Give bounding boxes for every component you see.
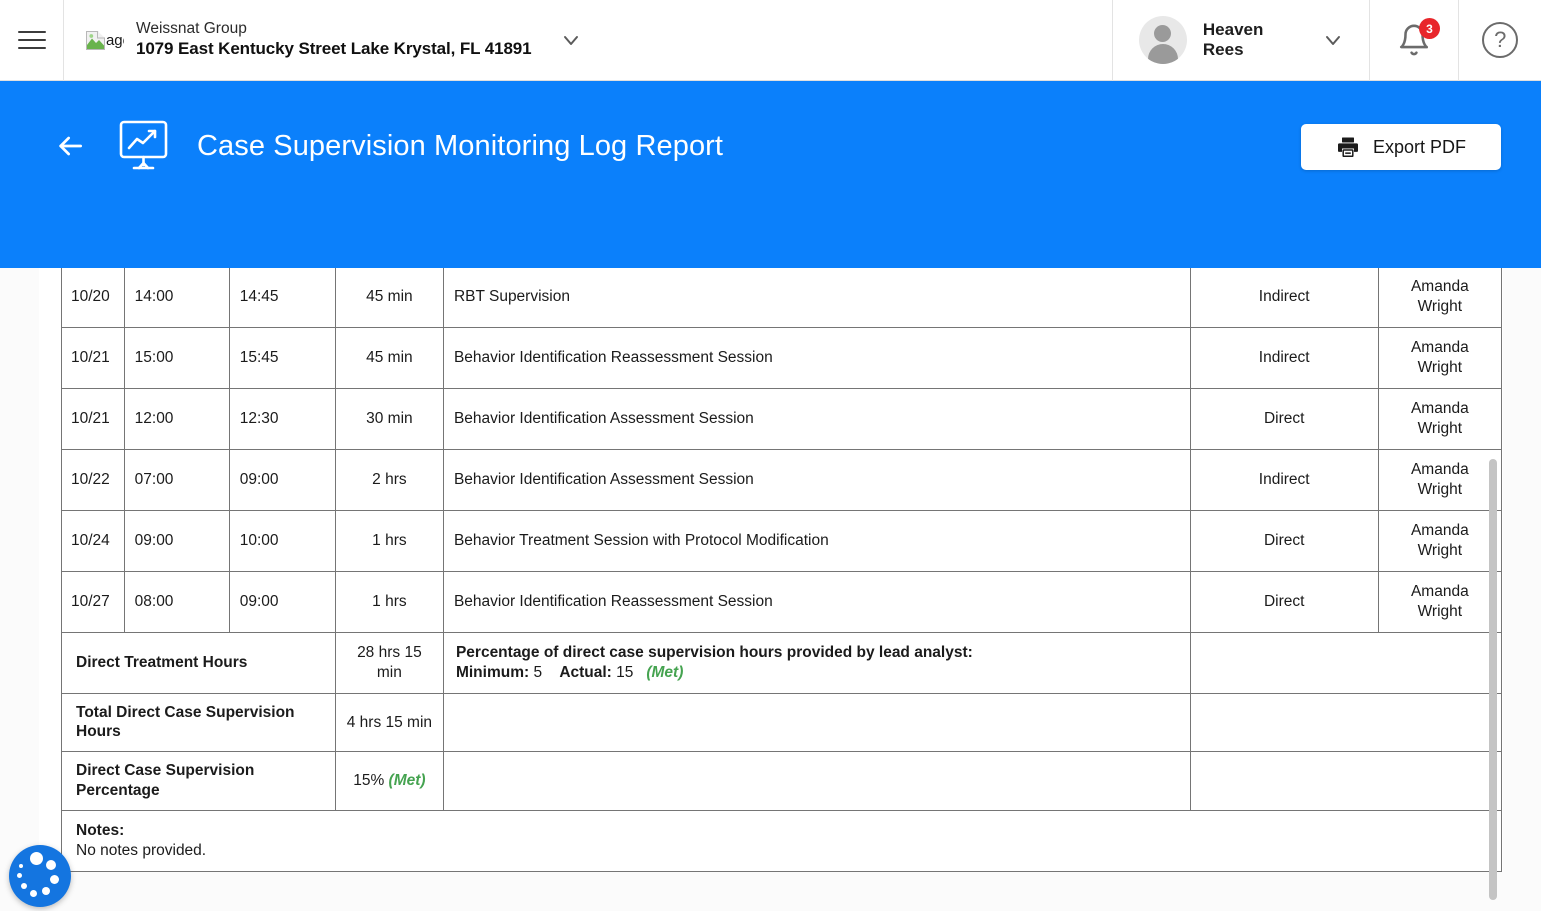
table-row[interactable]: 10/24 09:00 10:00 1 hrs Behavior Treatme… [62, 511, 1502, 572]
cell-activity: Behavior Treatment Session with Protocol… [443, 511, 1190, 572]
cell-activity: Behavior Identification Reassessment Ses… [443, 572, 1190, 633]
total-direct-label: Total Direct Case Supervision Hours [62, 693, 336, 752]
cell-supervisor: Amanda Wright [1378, 389, 1501, 450]
bell-icon: 3 [1397, 23, 1431, 57]
question-mark-icon: ? [1482, 22, 1518, 58]
cell-duration: 1 hrs [335, 572, 443, 633]
minimum-label: Minimum: [456, 664, 529, 681]
notes-text: No notes provided. [76, 841, 1487, 861]
actual-value: 15 [616, 664, 633, 681]
cell-type: Direct [1190, 572, 1378, 633]
percentage-detail-line: Minimum: 5 Actual: 15 (Met) [456, 663, 1178, 683]
notifications-button[interactable]: 3 [1369, 0, 1458, 81]
cell-end: 09:00 [229, 450, 335, 511]
arrow-left-icon [54, 130, 86, 162]
table-row[interactable]: 10/21 15:00 15:45 45 min Behavior Identi… [62, 328, 1502, 389]
cell-start: 15:00 [124, 328, 229, 389]
cell-duration: 45 min [335, 328, 443, 389]
cell-supervisor: Amanda Wright [1378, 572, 1501, 633]
cell-end: 14:45 [229, 267, 335, 328]
monitor-chart-icon [115, 118, 175, 174]
cell-end: 15:45 [229, 328, 335, 389]
vertical-scrollbar-thumb[interactable] [1489, 459, 1497, 900]
cell-supervisor: Amanda Wright [1378, 328, 1501, 389]
actual-label: Actual: [559, 664, 612, 681]
cell-start: 07:00 [124, 450, 229, 511]
report-header-bar: Case Supervision Monitoring Log Report E… [0, 81, 1541, 268]
cell-date: 10/22 [62, 450, 125, 511]
menu-button[interactable] [0, 0, 63, 81]
avatar [1139, 16, 1187, 64]
direct-treatment-value: 28 hrs 15 min [335, 633, 443, 694]
broken-image-icon [86, 31, 105, 50]
cell-duration: 30 min [335, 389, 443, 450]
cell-duration: 45 min [335, 267, 443, 328]
back-button[interactable] [48, 124, 92, 168]
organization-selector[interactable]: age Weissnat Group 1079 East Kentucky St… [64, 0, 1112, 81]
cell-start: 09:00 [124, 511, 229, 572]
percentage-status-badge: (Met) [646, 664, 683, 681]
cell-date: 10/27 [62, 572, 125, 633]
cell-date: 10/21 [62, 328, 125, 389]
summary-row-percentage: Direct Case Supervision Percentage 15% (… [62, 752, 1502, 811]
cell-start: 14:00 [124, 267, 229, 328]
report-table-container: 10/20 15:30 16:15 45 min Conduct direct … [39, 205, 1503, 872]
page-title: Case Supervision Monitoring Log Report [197, 130, 723, 163]
summary-blank-cell [443, 752, 1190, 811]
cell-date: 10/24 [62, 511, 125, 572]
top-navigation-bar: age Weissnat Group 1079 East Kentucky St… [0, 0, 1541, 81]
hamburger-icon [18, 25, 46, 55]
organization-address: 1079 East Kentucky Street Lake Krystal, … [136, 39, 532, 60]
percentage-heading: Percentage of direct case supervision ho… [456, 643, 1178, 663]
cell-supervisor: Amanda Wright [1378, 267, 1501, 328]
accessibility-widget-button[interactable] [9, 845, 71, 907]
notes-title: Notes: [76, 821, 1487, 841]
notes-cell: Notes: No notes provided. [62, 810, 1502, 871]
percentage-summary-cell: Percentage of direct case supervision ho… [443, 633, 1190, 694]
cell-start: 12:00 [124, 389, 229, 450]
cell-duration: 1 hrs [335, 511, 443, 572]
cell-activity: Behavior Identification Assessment Sessi… [443, 450, 1190, 511]
percentage-value: 15% [353, 772, 384, 789]
direct-treatment-label: Direct Treatment Hours [62, 633, 336, 694]
help-button[interactable]: ? [1459, 0, 1541, 81]
cell-duration: 2 hrs [335, 450, 443, 511]
summary-row-total-direct: Total Direct Case Supervision Hours 4 hr… [62, 693, 1502, 752]
table-body: 10/20 15:30 16:15 45 min Conduct direct … [62, 206, 1502, 872]
cell-date: 10/20 [62, 267, 125, 328]
table-row[interactable]: 10/21 12:00 12:30 30 min Behavior Identi… [62, 389, 1502, 450]
summary-blank-cell [1190, 752, 1501, 811]
cell-activity: Behavior Identification Assessment Sessi… [443, 389, 1190, 450]
cell-end: 12:30 [229, 389, 335, 450]
cell-date: 10/21 [62, 389, 125, 450]
table-row[interactable]: 10/27 08:00 09:00 1 hrs Behavior Identif… [62, 572, 1502, 633]
percentage-value-cell: 15% (Met) [335, 752, 443, 811]
supervision-log-table: 10/20 15:30 16:15 45 min Conduct direct … [61, 205, 1502, 872]
notification-badge: 3 [1419, 18, 1440, 39]
cell-activity: Behavior Identification Reassessment Ses… [443, 328, 1190, 389]
printer-icon [1336, 135, 1360, 159]
percentage-value-status: (Met) [389, 772, 426, 789]
notes-row: Notes: No notes provided. [62, 810, 1502, 871]
cell-activity: RBT Supervision [443, 267, 1190, 328]
organization-name: Weissnat Group [136, 20, 532, 39]
export-pdf-label: Export PDF [1373, 137, 1466, 158]
summary-blank-cell [1190, 693, 1501, 752]
report-header-content: Case Supervision Monitoring Log Report E… [0, 81, 1541, 211]
cell-end: 09:00 [229, 572, 335, 633]
cell-supervisor: Amanda Wright [1378, 450, 1501, 511]
cell-type: Indirect [1190, 328, 1378, 389]
cell-type: Indirect [1190, 450, 1378, 511]
percentage-label: Direct Case Supervision Percentage [62, 752, 336, 811]
total-direct-value: 4 hrs 15 min [335, 693, 443, 752]
cell-start: 08:00 [124, 572, 229, 633]
cell-type: Direct [1190, 511, 1378, 572]
export-pdf-button[interactable]: Export PDF [1301, 124, 1501, 170]
minimum-value: 5 [533, 664, 542, 681]
summary-row-direct-treatment: Direct Treatment Hours 28 hrs 15 min Per… [62, 633, 1502, 694]
cell-type: Indirect [1190, 267, 1378, 328]
cell-supervisor: Amanda Wright [1378, 511, 1501, 572]
organization-chevron-down-icon[interactable] [558, 27, 584, 53]
user-menu[interactable]: Heaven Rees [1113, 0, 1369, 81]
organization-logo-alt-text: age [106, 33, 124, 48]
table-row[interactable]: 10/20 14:00 14:45 45 min RBT Supervision… [62, 267, 1502, 328]
summary-blank-cell [1190, 633, 1501, 694]
organization-logo: age [86, 25, 124, 55]
cell-end: 10:00 [229, 511, 335, 572]
table-row[interactable]: 10/22 07:00 09:00 2 hrs Behavior Identif… [62, 450, 1502, 511]
user-chevron-down-icon[interactable] [1321, 27, 1345, 53]
organization-info: Weissnat Group 1079 East Kentucky Street… [136, 20, 532, 60]
summary-blank-cell [443, 693, 1190, 752]
cell-type: Direct [1190, 389, 1378, 450]
user-name-label: Heaven Rees [1203, 20, 1295, 60]
